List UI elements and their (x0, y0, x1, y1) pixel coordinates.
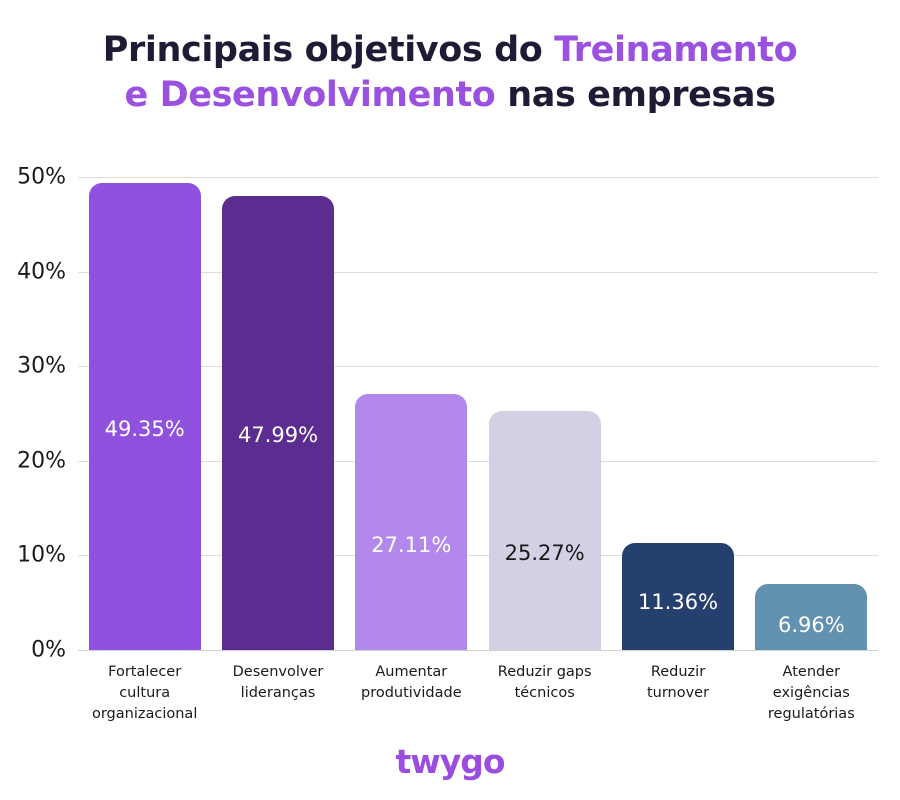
x-axis-category-label: Atenderexigênciasregulatórias (745, 662, 878, 725)
x-label-line: Desenvolver (233, 664, 324, 680)
x-label-line: Fortalecer (108, 664, 181, 680)
x-axis-category-label: Aumentarprodutividade (345, 662, 478, 704)
page-title: Principais objetivos do Treinamento e De… (0, 28, 900, 118)
x-axis-category-label: Desenvolverlideranças (211, 662, 344, 704)
x-label-line: turnover (647, 685, 709, 701)
title-text-2: nas empresas (495, 75, 775, 115)
y-axis-tick-label: 0% (0, 638, 66, 663)
bar-slot: 11.36% (622, 177, 734, 650)
chart-infographic: Principais objetivos do Treinamento e De… (0, 0, 900, 800)
bar-slot: 25.27% (489, 177, 601, 650)
y-axis-tick-label: 40% (0, 259, 66, 284)
bar-value-label: 47.99% (222, 423, 334, 447)
bar-slot: 47.99% (222, 177, 334, 650)
x-axis-labels: FortalecerculturaorganizacionalDesenvolv… (78, 662, 878, 732)
x-axis-category-label: Fortalecerculturaorganizacional (78, 662, 211, 725)
bar-value-label: 27.11% (355, 533, 467, 557)
x-label-line: regulatórias (768, 706, 855, 722)
y-axis-tick-label: 50% (0, 165, 66, 190)
x-label-line: Reduzir gaps (498, 664, 592, 680)
twygo-logo: twygo (0, 742, 900, 781)
bar[interactable] (489, 411, 601, 650)
title-accent-2: e Desenvolvimento (124, 75, 495, 115)
bar[interactable] (355, 394, 467, 650)
bars-layer: 49.35%47.99%27.11%25.27%11.36%6.96% (78, 177, 878, 650)
x-label-line: técnicos (515, 685, 575, 701)
y-axis-labels: 0%10%20%30%40%50% (0, 177, 66, 650)
y-axis-tick-label: 10% (0, 543, 66, 568)
bar-value-label: 6.96% (755, 613, 867, 637)
bar-value-label: 11.36% (622, 590, 734, 614)
y-axis-tick-label: 20% (0, 448, 66, 473)
x-axis-category-label: Reduzir gapstécnicos (478, 662, 611, 704)
x-label-line: Atender (783, 664, 841, 680)
x-label-line: Aumentar (375, 664, 447, 680)
x-label-line: produtividade (361, 685, 462, 701)
x-label-line: organizacional (92, 706, 197, 722)
bar-slot: 27.11% (355, 177, 467, 650)
bar-slot: 49.35% (89, 177, 201, 650)
bar-value-label: 49.35% (89, 417, 201, 441)
title-text-1: Principais objetivos do (103, 30, 554, 70)
title-accent-1: Treinamento (554, 30, 797, 70)
x-label-line: Reduzir (651, 664, 705, 680)
axis-baseline (78, 650, 878, 651)
x-label-line: exigências (773, 685, 850, 701)
y-axis-tick-label: 30% (0, 354, 66, 379)
bar-value-label: 25.27% (489, 541, 601, 565)
x-label-line: cultura (119, 685, 170, 701)
bar-slot: 6.96% (755, 177, 867, 650)
x-label-line: lideranças (241, 685, 316, 701)
x-axis-category-label: Reduzirturnover (611, 662, 744, 704)
